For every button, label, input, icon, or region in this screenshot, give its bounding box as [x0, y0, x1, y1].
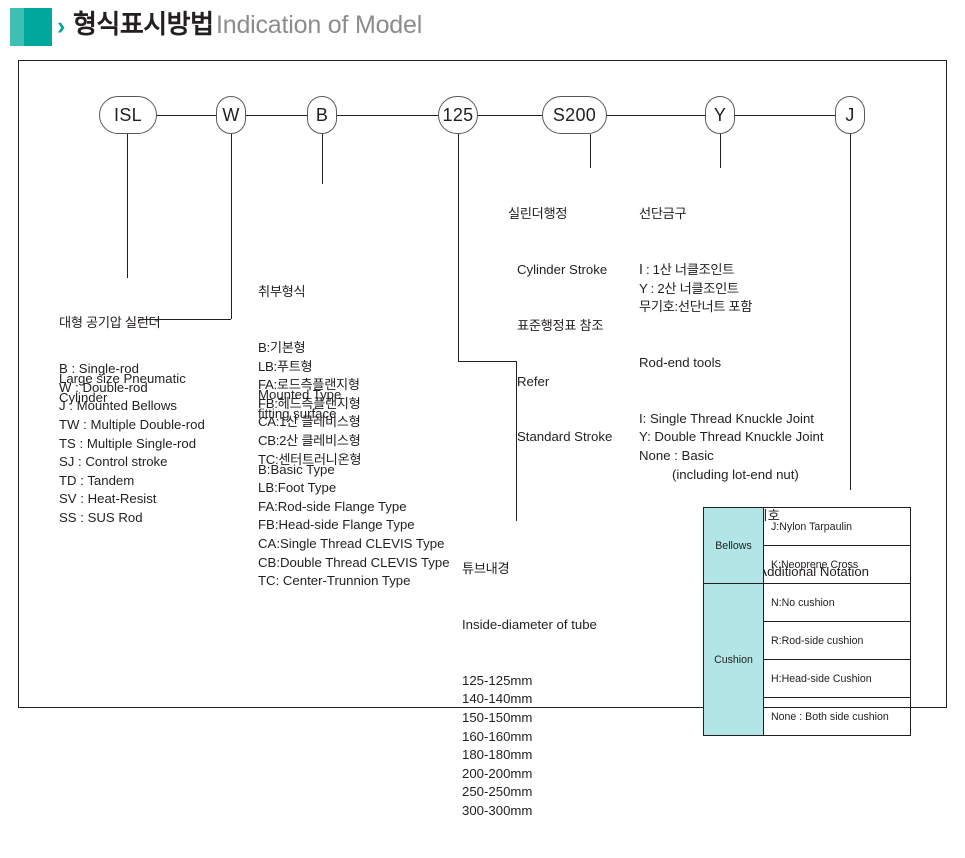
diagram-frame: ISL W B 125 S200 Y J 대형 공기압 실린더 Large si…	[18, 60, 947, 708]
block-rod-type: B : Single-rod W : Double-rod J : Mounte…	[59, 323, 205, 565]
value-cell: N:No cushion	[764, 584, 911, 622]
connector-s200	[590, 134, 591, 168]
connector-j	[850, 134, 851, 490]
spine-y-j	[734, 115, 835, 116]
stroke-line-5: Standard Stroke	[508, 428, 612, 447]
block-mount-type-en: Mounted Type fitting surface B:Basic Typ…	[258, 349, 450, 628]
tube-bore-heading-ko: 튜브내경	[462, 560, 597, 579]
chevron-right-icon: ›	[57, 11, 65, 41]
page-title-korean: 형식표시방법	[73, 7, 214, 41]
value-cell: K:Neoprene Cross	[764, 546, 911, 584]
value-cell: H:Head-side Cushion	[764, 660, 911, 698]
stroke-line-4: Refer	[508, 373, 612, 392]
node-y[interactable]: Y	[705, 96, 735, 134]
additional-notation-tbody: Bellows J:Nylon Tarpaulin K:Neoprene Cro…	[704, 508, 911, 736]
connector-isl	[127, 134, 128, 278]
node-s200[interactable]: S200	[542, 96, 607, 134]
rod-end-heading-ko: 선단금구	[639, 205, 824, 224]
connector-b	[322, 134, 323, 184]
tube-bore-items: 125-125mm 140-140mm 150-150mm 160-160mm …	[462, 672, 597, 821]
tube-bore-heading-en: Inside-diameter of tube	[462, 616, 597, 635]
node-j[interactable]: J	[835, 96, 865, 134]
connector-125-vertical	[458, 134, 459, 361]
rod-end-items-ko: Ⅰ : 1산 너클조인트 Y : 2산 너클조인트 무기호:선단너트 포함	[639, 261, 824, 317]
spine-s200-y	[606, 115, 705, 116]
rod-type-items: B : Single-rod W : Double-rod J : Mounte…	[59, 360, 205, 527]
header-accent-block-light	[10, 8, 24, 46]
table-row: Bellows J:Nylon Tarpaulin	[704, 508, 911, 546]
mount-type-heading-en: Mounted Type fitting surface	[258, 386, 450, 423]
additional-notation-table: Bellows J:Nylon Tarpaulin K:Neoprene Cro…	[703, 507, 911, 736]
value-cell: J:Nylon Tarpaulin	[764, 508, 911, 546]
block-tube-bore: 튜브내경 Inside-diameter of tube 125-125mm 1…	[462, 523, 597, 858]
node-isl[interactable]: ISL	[99, 96, 157, 134]
block-stroke: 실린더행정 Cylinder Stroke 표준행정표 참조 Refer Sta…	[508, 168, 612, 484]
spine-isl-w	[156, 115, 216, 116]
stroke-line-3: 표준행정표 참조	[508, 317, 612, 336]
spine-125-s200	[477, 115, 543, 116]
mount-type-heading-ko: 취부형식	[258, 283, 361, 302]
spine-w-b	[245, 115, 307, 116]
connector-y	[720, 134, 721, 168]
group-cell-bellows: Bellows	[704, 508, 764, 584]
page-header: › 형식표시방법 Indication of Model	[0, 0, 965, 56]
mount-type-items-en: B:Basic Type LB:Foot Type FA:Rod-side Fl…	[258, 461, 450, 591]
connector-w-vertical	[231, 134, 232, 319]
node-w[interactable]: W	[216, 96, 246, 134]
group-cell-cushion: Cushion	[704, 584, 764, 736]
page-title-english: Indication of Model	[216, 8, 422, 42]
node-b[interactable]: B	[307, 96, 337, 134]
rod-end-heading-en: Rod-end tools	[639, 354, 824, 373]
spine-b-125	[336, 115, 439, 116]
table-row: Cushion N:No cushion	[704, 584, 911, 622]
stroke-heading-ko: 실린더행정	[508, 205, 612, 224]
value-cell: R:Rod-side cushion	[764, 622, 911, 660]
block-rod-end: 선단금구 Ⅰ : 1산 너클조인트 Y : 2산 너클조인트 무기호:선단너트 …	[639, 168, 824, 521]
node-125[interactable]: 125	[438, 96, 478, 134]
stroke-line-2: Cylinder Stroke	[508, 261, 612, 280]
value-cell: None : Both side cushion	[764, 698, 911, 736]
